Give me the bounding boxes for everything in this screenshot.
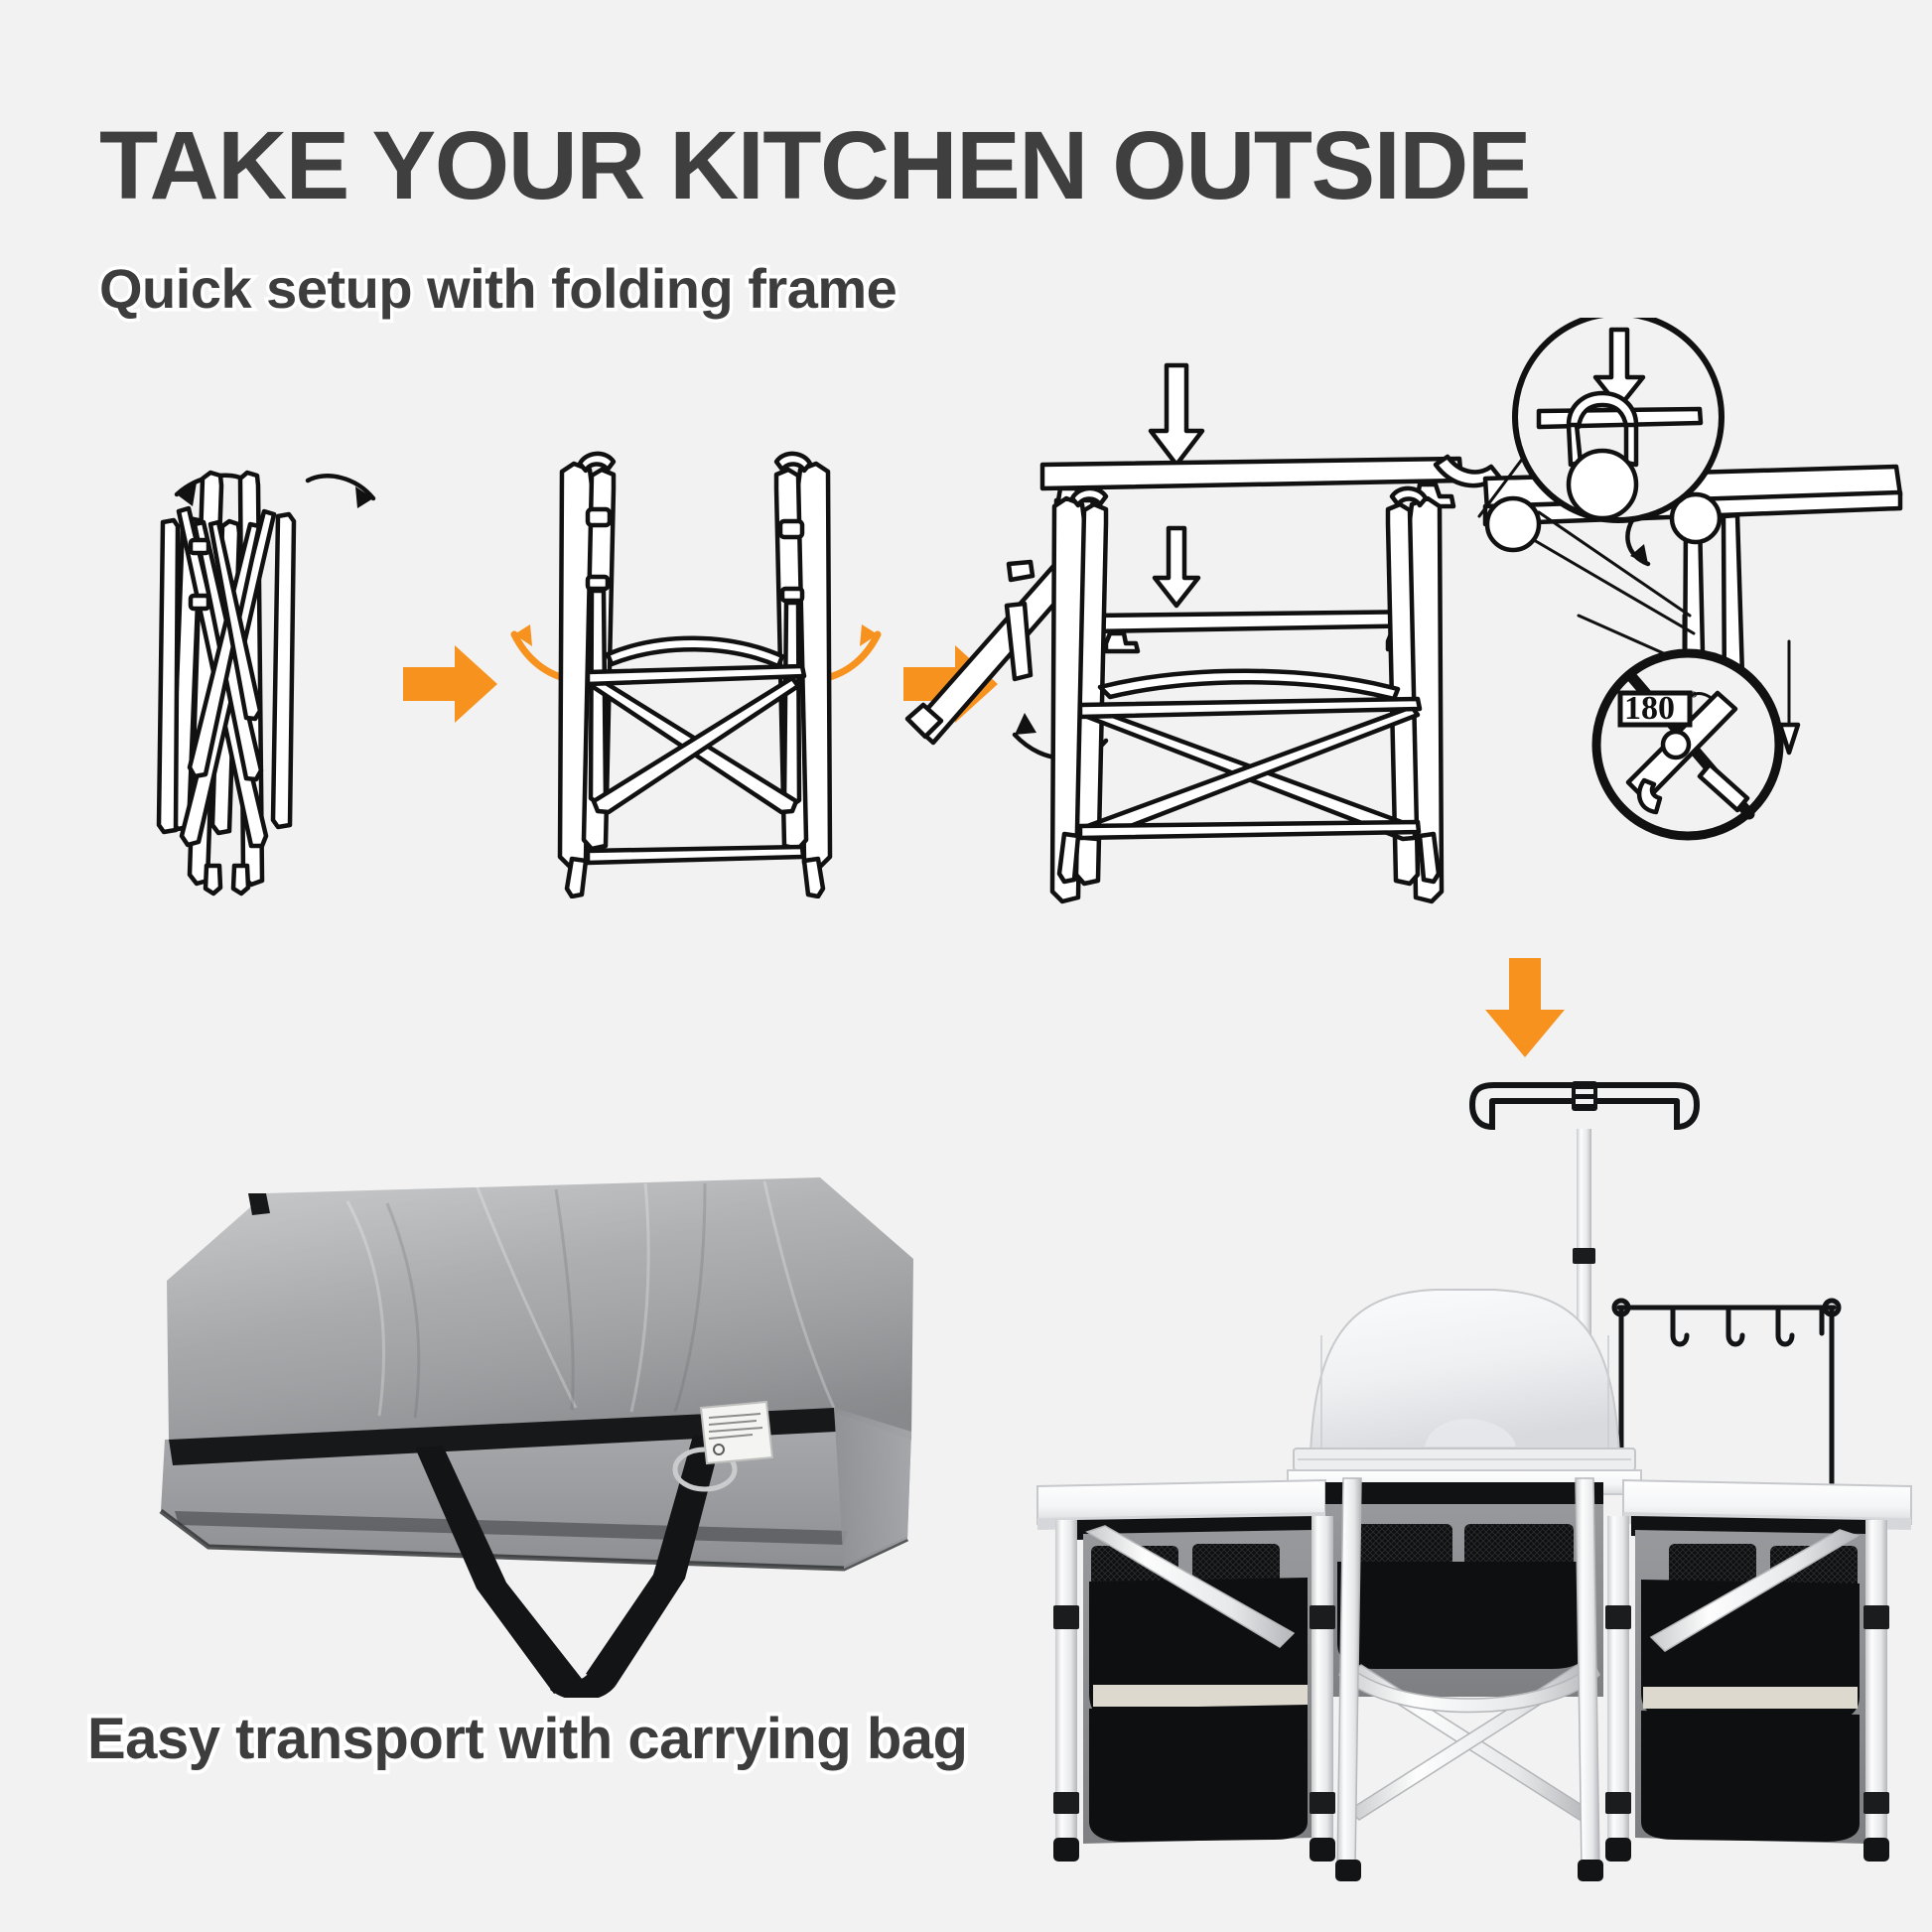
frame-foot-right <box>804 859 823 897</box>
center-front-pocket <box>1337 1562 1589 1669</box>
frame-assembly-step3 <box>1052 488 1442 901</box>
page-subtitle: Quick setup with folding frame <box>99 256 897 321</box>
no-180-rotation-callout: 180 ° <box>1579 616 1779 836</box>
no-180-label: 180 <box>1624 690 1675 727</box>
left-internal-shelf <box>1093 1685 1308 1707</box>
page-title: TAKE YOUR KITCHEN OUTSIDE <box>99 117 1530 213</box>
right-internal-shelf <box>1643 1687 1858 1709</box>
right-storage-cabinet <box>1631 1516 1873 1844</box>
svg-text:°: ° <box>1690 688 1698 710</box>
folded-tube-bundle <box>159 473 294 894</box>
press-down-arrow-middle <box>1155 528 1198 606</box>
frame-bottom-rail <box>588 847 803 863</box>
poster-canvas: TAKE YOUR KITCHEN OUTSIDE Quick setup wi… <box>0 0 1932 1932</box>
carrying-bag-photo <box>149 1142 923 1698</box>
bag-care-label <box>701 1402 772 1463</box>
lantern-hanger-clamp <box>1572 1081 1597 1111</box>
hook-rail <box>1619 1308 1834 1486</box>
frame-x-brace <box>592 678 798 812</box>
arrow-step1-to-step2 <box>403 639 497 729</box>
frame-top-rails <box>588 638 804 684</box>
frame-foot-left <box>567 859 586 897</box>
diagram-step-3: 180 ° <box>884 318 1916 913</box>
left-lower-pocket <box>1089 1705 1308 1842</box>
unfold-arrow-right <box>308 476 373 508</box>
press-down-arrow-top <box>1151 365 1202 465</box>
center-mesh-pocket-b <box>1464 1524 1574 1566</box>
right-lower-pocket <box>1641 1711 1860 1842</box>
camp-kitchen-photo <box>1028 1037 1926 1891</box>
tabletop-lower-shelf <box>1090 612 1429 651</box>
diagram-step-2 <box>496 442 894 898</box>
center-storage-cabinet <box>1325 1482 1603 1697</box>
left-storage-cabinet <box>1075 1516 1317 1844</box>
bag-caption: Easy transport with carrying bag <box>87 1706 967 1772</box>
